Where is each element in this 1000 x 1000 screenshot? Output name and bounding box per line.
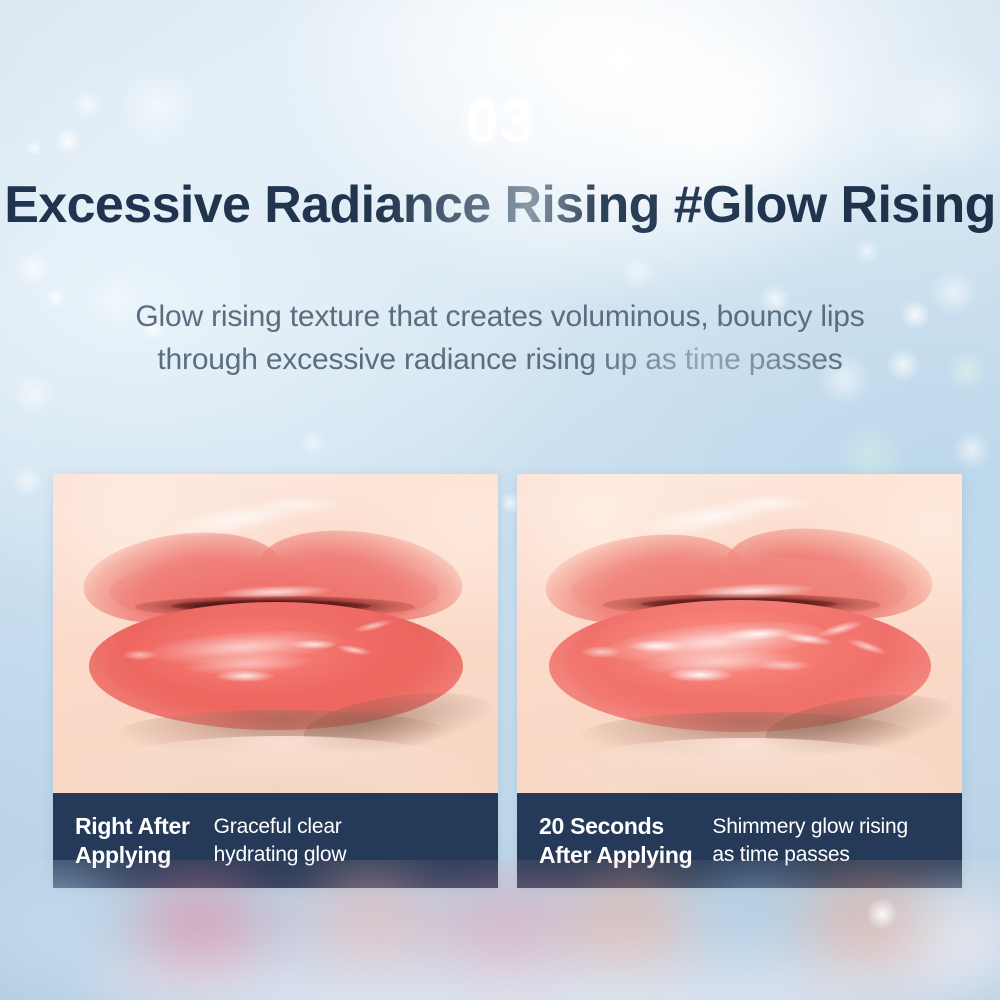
lips-photo-right-after-applying [53, 474, 498, 794]
section-number: 03 [0, 92, 1000, 152]
blurred-product-shelf [0, 860, 1000, 1000]
comparison-panels: Right After Applying Graceful clear hydr… [53, 474, 962, 888]
caption-title-left-line-1: Right After [75, 812, 190, 841]
subtitle-line-1: Glow rising texture that creates volumin… [0, 296, 1000, 339]
comparison-panel-right: 20 Seconds After Applying Shimmery glow … [517, 474, 962, 888]
caption-desc-left-line-1: Graceful clear [214, 813, 347, 841]
page-title: Excessive Radiance Rising #Glow Rising [0, 176, 1000, 235]
subtitle-line-2: through excessive radiance rising up as … [0, 339, 1000, 382]
lips-photo-20-seconds-after-applying [517, 474, 962, 794]
section-subtitle: Glow rising texture that creates volumin… [0, 296, 1000, 381]
caption-title-right-line-1: 20 Seconds [539, 812, 692, 841]
caption-desc-right-line-1: Shimmery glow rising [712, 813, 908, 841]
comparison-panel-left: Right After Applying Graceful clear hydr… [53, 474, 498, 888]
product-detail-page: 03 Excessive Radiance Rising #Glow Risin… [0, 0, 1000, 1000]
